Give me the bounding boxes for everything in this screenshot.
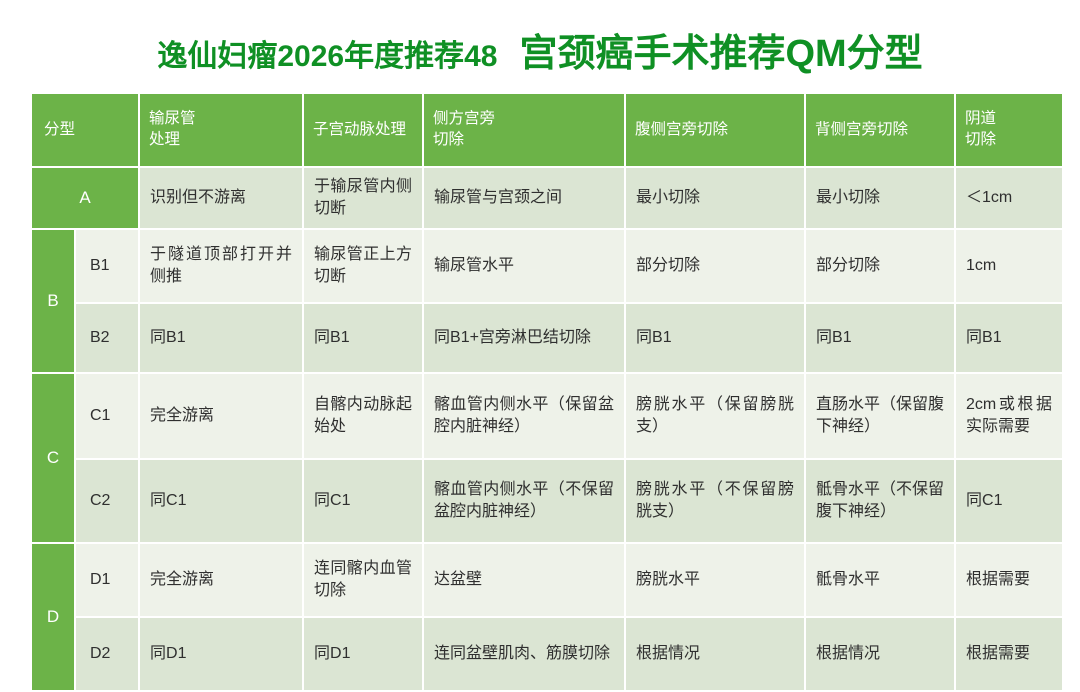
cell-c2-ureter: 同C1: [140, 460, 302, 542]
cell-a-lateral: 输尿管与宫颈之间: [424, 168, 624, 228]
column-header-lateral-line2: 切除: [433, 130, 615, 151]
cell-d1-lateral: 达盆壁: [424, 544, 624, 616]
group-label-c: C: [32, 374, 74, 542]
cell-d1-uterine-artery: 连同髂内血管切除: [304, 544, 422, 616]
page-title: 逸仙妇瘤2026年度推荐48宫颈癌手术推荐QM分型: [0, 22, 1080, 77]
subtype-label-b2: B2: [76, 304, 138, 372]
cell-b2-uterine-artery: 同B1: [304, 304, 422, 372]
qm-classification-table-wrapper: 分型 输尿管 处理 子宫动脉处理 侧方宫旁 切除 腹侧宫旁切除 背侧宫旁切除 阴…: [30, 92, 1048, 692]
cell-c1-vaginal: 2cm或根据实际需要: [956, 374, 1062, 458]
cell-b2-ureter: 同B1: [140, 304, 302, 372]
cell-b2-vaginal: 同B1: [956, 304, 1062, 372]
cell-d2-dorsal: 根据情况: [806, 618, 954, 690]
table-row: D D1 完全游离 连同髂内血管切除 达盆壁 膀胱水平 骶骨水平 根据需要: [32, 544, 1062, 616]
cell-a-ventral: 最小切除: [626, 168, 804, 228]
subtype-label-c2: C2: [76, 460, 138, 542]
subtype-label-b1: B1: [76, 230, 138, 302]
cell-a-dorsal: 最小切除: [806, 168, 954, 228]
column-header-lateral-parametrium: 侧方宫旁 切除: [424, 94, 624, 166]
cell-d2-ventral: 根据情况: [626, 618, 804, 690]
column-header-vaginal-line1: 阴道: [965, 109, 1053, 130]
table-row: B2 同B1 同B1 同B1+宫旁淋巴结切除 同B1 同B1 同B1: [32, 304, 1062, 372]
column-header-ureter: 输尿管 处理: [140, 94, 302, 166]
column-header-vaginal-line2: 切除: [965, 130, 1053, 151]
subtype-label-c1: C1: [76, 374, 138, 458]
cell-b2-lateral: 同B1+宫旁淋巴结切除: [424, 304, 624, 372]
cell-c1-ventral: 膀胱水平（保留膀胱支）: [626, 374, 804, 458]
table-row: A 识别但不游离 于输尿管内侧切断 输尿管与宫颈之间 最小切除 最小切除 ＜1c…: [32, 168, 1062, 228]
subtype-label-d1: D1: [76, 544, 138, 616]
cell-d2-ureter: 同D1: [140, 618, 302, 690]
title-main: 宫颈癌手术推荐QM分型: [519, 33, 922, 75]
column-header-lateral-line1: 侧方宫旁: [433, 109, 615, 130]
cell-d1-dorsal: 骶骨水平: [806, 544, 954, 616]
cell-d2-vaginal: 根据需要: [956, 618, 1062, 690]
subtype-label-d2: D2: [76, 618, 138, 690]
cell-c1-lateral: 髂血管内侧水平（保留盆腔内脏神经）: [424, 374, 624, 458]
cell-b1-dorsal: 部分切除: [806, 230, 954, 302]
cell-b1-ventral: 部分切除: [626, 230, 804, 302]
cell-a-uterine-artery: 于输尿管内侧切断: [304, 168, 422, 228]
cell-c1-uterine-artery: 自髂内动脉起始处: [304, 374, 422, 458]
cell-d2-uterine-artery: 同D1: [304, 618, 422, 690]
qm-classification-table: 分型 输尿管 处理 子宫动脉处理 侧方宫旁 切除 腹侧宫旁切除 背侧宫旁切除 阴…: [30, 92, 1064, 692]
cell-c2-vaginal: 同C1: [956, 460, 1062, 542]
cell-d1-vaginal: 根据需要: [956, 544, 1062, 616]
column-header-ventral-parametrium: 腹侧宫旁切除: [626, 94, 804, 166]
cell-d2-lateral: 连同盆壁肌肉、筋膜切除: [424, 618, 624, 690]
cell-b2-ventral: 同B1: [626, 304, 804, 372]
cell-d1-ventral: 膀胱水平: [626, 544, 804, 616]
column-header-ureter-line2: 处理: [149, 130, 293, 151]
slide-page: 逸仙妇瘤2026年度推荐48宫颈癌手术推荐QM分型 分型 输尿管 处理: [0, 0, 1080, 608]
cell-b2-dorsal: 同B1: [806, 304, 954, 372]
cell-c1-ureter: 完全游离: [140, 374, 302, 458]
column-header-vaginal-resection: 阴道 切除: [956, 94, 1062, 166]
cell-c2-ventral: 膀胱水平（不保留膀胱支）: [626, 460, 804, 542]
cell-c2-lateral: 髂血管内侧水平（不保留盆腔内脏神经）: [424, 460, 624, 542]
cell-d1-ureter: 完全游离: [140, 544, 302, 616]
cell-c1-dorsal: 直肠水平（保留腹下神经）: [806, 374, 954, 458]
cell-a-vaginal: ＜1cm: [956, 168, 1062, 228]
cell-b1-uterine-artery: 输尿管正上方切断: [304, 230, 422, 302]
table-row: C C1 完全游离 自髂内动脉起始处 髂血管内侧水平（保留盆腔内脏神经） 膀胱水…: [32, 374, 1062, 458]
cell-b1-ureter: 于隧道顶部打开并侧推: [140, 230, 302, 302]
group-label-a: A: [32, 168, 138, 228]
column-header-ureter-line1: 输尿管: [149, 109, 293, 130]
group-label-d: D: [32, 544, 74, 690]
cell-b1-vaginal: 1cm: [956, 230, 1062, 302]
column-header-type: 分型: [32, 94, 138, 166]
cell-a-ureter: 识别但不游离: [140, 168, 302, 228]
title-prefix: 逸仙妇瘤2026年度推荐48: [157, 40, 497, 73]
table-row: D2 同D1 同D1 连同盆壁肌肉、筋膜切除 根据情况 根据情况 根据需要: [32, 618, 1062, 690]
column-header-dorsal-parametrium: 背侧宫旁切除: [806, 94, 954, 166]
group-label-b: B: [32, 230, 74, 372]
table-row: C2 同C1 同C1 髂血管内侧水平（不保留盆腔内脏神经） 膀胱水平（不保留膀胱…: [32, 460, 1062, 542]
table-row: B B1 于隧道顶部打开并侧推 输尿管正上方切断 输尿管水平 部分切除 部分切除…: [32, 230, 1062, 302]
cell-c2-dorsal: 骶骨水平（不保留腹下神经）: [806, 460, 954, 542]
cell-b1-lateral: 输尿管水平: [424, 230, 624, 302]
table-header-row: 分型 输尿管 处理 子宫动脉处理 侧方宫旁 切除 腹侧宫旁切除 背侧宫旁切除 阴…: [32, 94, 1062, 166]
column-header-uterine-artery: 子宫动脉处理: [304, 94, 422, 166]
cell-c2-uterine-artery: 同C1: [304, 460, 422, 542]
